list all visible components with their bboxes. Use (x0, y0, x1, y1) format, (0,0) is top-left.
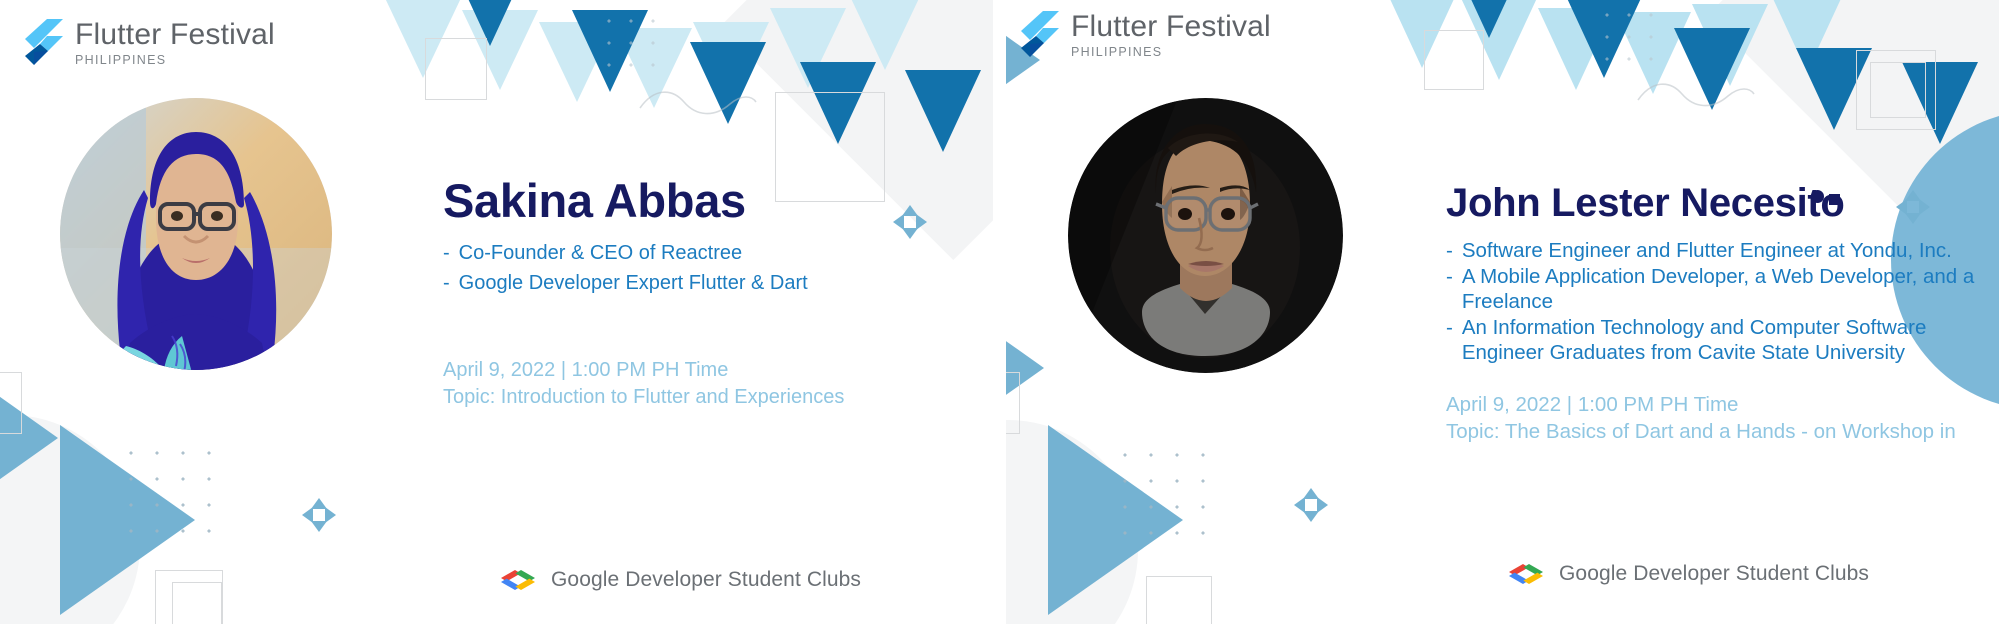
bunting-pennant-icon (452, 0, 528, 46)
gdsc-chevrons-icon (1506, 563, 1546, 585)
session-datetime: April 9, 2022 | 1:00 PM PH Time (443, 357, 973, 384)
speaker-bullets: - Co-Founder & CEO of Reactree - Google … (443, 241, 973, 295)
flutter-logo-icon (1016, 10, 1060, 58)
gray-circle-decoration (0, 415, 140, 624)
bunting-pennant-icon (539, 22, 615, 102)
list-item: - Google Developer Expert Flutter & Dart (443, 271, 973, 295)
gdsc-footer-logo: Google Developer Student Clubs (1506, 562, 1869, 586)
gdsc-label: Google Developer Student Clubs (1559, 562, 1869, 586)
bunting-pennant-icon (1902, 62, 1978, 144)
bullet-text: A Mobile Application Developer, a Web De… (1462, 264, 1999, 314)
dot-grid-decoration (1596, 4, 1666, 74)
gdsc-footer-logo: Google Developer Student Clubs (498, 568, 861, 592)
bunting-pennant-icon (1384, 0, 1460, 68)
bunting-string-light (1366, 0, 1986, 24)
bunting-pennant-icon (1692, 4, 1768, 86)
square-outline-decoration (1146, 576, 1212, 624)
bunting-string-blue (640, 0, 993, 26)
bullet-text: An Information Technology and Computer S… (1462, 315, 1999, 365)
session-topic: Topic: Introduction to Flutter and Exper… (443, 384, 973, 411)
square-outline-decoration (1870, 62, 1926, 118)
bunting-pennant-icon (1615, 12, 1691, 94)
bullet-marker: - (1446, 238, 1453, 263)
triangle-decoration (60, 425, 195, 615)
speaker-name: John Lester Necesito (1446, 182, 1999, 224)
bunting-string-light (370, 0, 990, 32)
square-outline-decoration (172, 582, 222, 624)
bunting-pennant-icon (1451, 0, 1527, 38)
speaker-card-1: Flutter Festival PHILIPPINES (0, 0, 993, 624)
card-divider (993, 0, 1006, 624)
bunting-pennant-icon (770, 8, 846, 88)
speaker-portrait-john-lester (1068, 98, 1343, 373)
bullet-marker: - (443, 241, 450, 265)
speaker-bullets: - Software Engineer and Flutter Engineer… (1446, 238, 1999, 365)
square-outline-decoration (155, 570, 223, 624)
flutter-festival-logo: Flutter Festival PHILIPPINES (20, 18, 275, 67)
speaker-info-1: Sakina Abbas - Co-Founder & CEO of React… (443, 176, 973, 410)
square-outline-decoration (1856, 50, 1936, 130)
triangle-decoration (0, 370, 58, 506)
bunting-pennant-icon (800, 62, 876, 144)
squiggle-decoration (1636, 78, 1756, 114)
list-item: - A Mobile Application Developer, a Web … (1446, 264, 1999, 314)
session-topic: Topic: The Basics of Dart and a Hands - … (1446, 418, 1999, 445)
brand-subtitle: PHILIPPINES (75, 53, 275, 67)
gdsc-chevrons-icon (498, 569, 538, 591)
list-item: - Co-Founder & CEO of Reactree (443, 241, 973, 265)
bunting-pennant-icon (1769, 0, 1845, 72)
bunting-pennant-icon (693, 22, 769, 102)
bunting-pennant-icon (1461, 0, 1537, 80)
bunting-pennant-icon (385, 0, 461, 78)
speaker-name: Sakina Abbas (443, 176, 973, 225)
bunting-pennant-icon (847, 0, 923, 70)
bullet-marker: - (1446, 315, 1453, 365)
bunting-pennant-icon (462, 10, 538, 90)
speaker-portrait-sakina (60, 98, 332, 370)
square-outline-decoration (425, 38, 487, 100)
list-item: - Software Engineer and Flutter Engineer… (1446, 238, 1999, 263)
square-outline-decoration (1006, 372, 1020, 434)
bullet-marker: - (1446, 264, 1453, 314)
bullet-text: Google Developer Expert Flutter & Dart (459, 271, 808, 295)
bunting-pennant-icon (1538, 8, 1614, 90)
bunting-pennant-icon (1674, 28, 1750, 110)
brand-title: Flutter Festival (75, 18, 275, 51)
sparkle-icon (302, 498, 336, 532)
dot-grid-decoration (118, 440, 214, 540)
bullet-text: Co-Founder & CEO of Reactree (459, 241, 742, 265)
session-datetime: April 9, 2022 | 1:00 PM PH Time (1446, 391, 1999, 418)
flutter-festival-logo: Flutter Festival PHILIPPINES (1016, 10, 1271, 59)
speaker-card-2: Flutter Festival PHILIPPINES (1006, 0, 1999, 624)
bunting-pennant-icon (572, 10, 648, 92)
triangle-decoration (1048, 425, 1183, 615)
gray-circle-decoration (1006, 420, 1138, 624)
brand-title: Flutter Festival (1071, 10, 1271, 43)
bullet-marker: - (443, 271, 450, 295)
sparkle-icon (1294, 488, 1328, 522)
list-item: - An Information Technology and Computer… (1446, 315, 1999, 365)
dot-grid-decoration (1112, 442, 1208, 538)
bunting-pennant-icon (690, 42, 766, 124)
gdsc-label: Google Developer Student Clubs (551, 568, 861, 592)
speaker-info-2: John Lester Necesito - Software Engineer… (1446, 182, 1999, 446)
flutter-logo-icon (20, 18, 64, 66)
bullet-text: Software Engineer and Flutter Engineer a… (1462, 238, 1952, 263)
squiggle-decoration (638, 86, 758, 122)
square-outline-decoration (1424, 30, 1484, 90)
triangle-decoration (1006, 300, 1044, 436)
bunting-pennant-icon (1796, 48, 1872, 130)
dot-grid-decoration (598, 10, 670, 82)
bunting-pennant-icon (905, 70, 981, 152)
bunting-string-blue (1631, 0, 1999, 18)
bunting-pennant-icon (616, 28, 692, 108)
bunting-pennant-icon (1566, 0, 1642, 78)
brand-subtitle: PHILIPPINES (1071, 45, 1271, 59)
square-outline-decoration (0, 372, 22, 434)
